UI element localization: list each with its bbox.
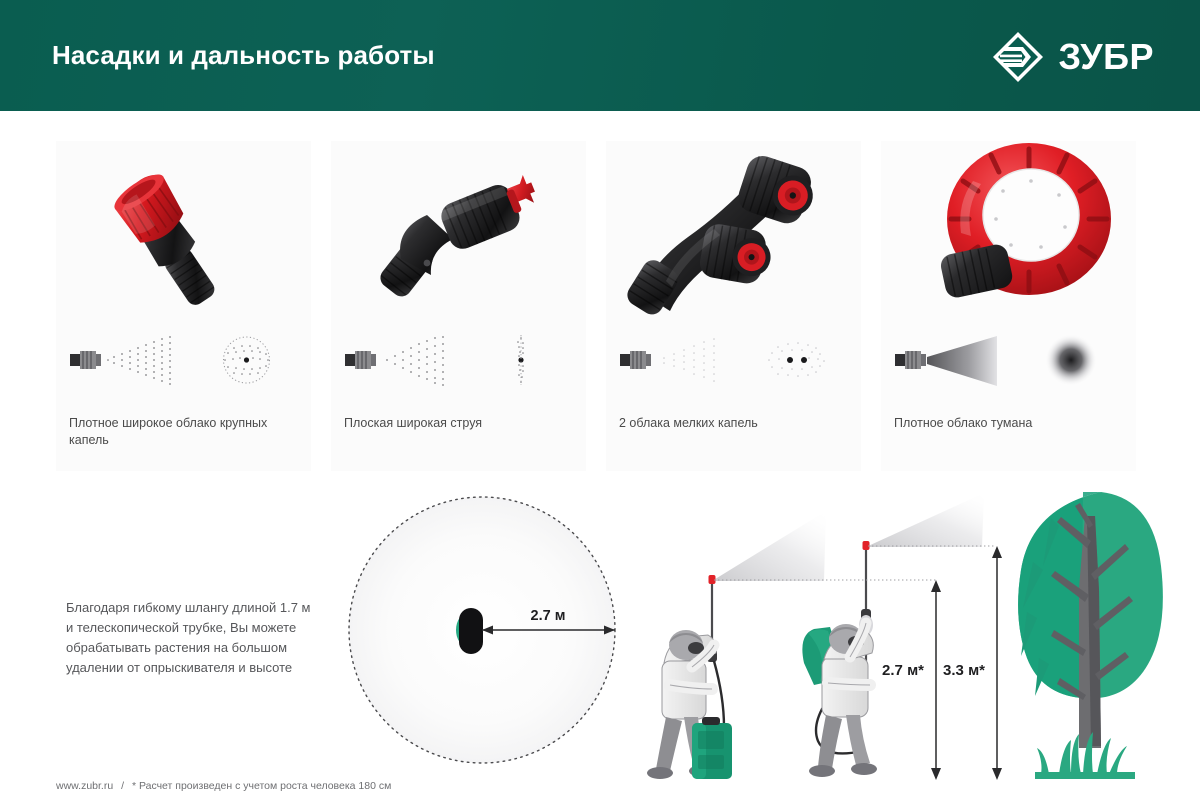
coverage-radius-diagram: 2.7 м [330, 478, 640, 783]
page-header: Насадки и дальность работы ЗУБР [0, 0, 1200, 111]
reach-height-diagram: 2.7 м* 3.3 м* [636, 485, 1026, 785]
twin-head-nozzle-photo [606, 141, 862, 331]
nozzle-card[interactable]: Плотное широкое облако крупных капель [56, 141, 312, 471]
operator-with-backpack-sprayer [802, 493, 984, 777]
nozzle-card-label: Плотное широкое облако крупных капель [69, 415, 301, 448]
footer-note: * Расчет произведен с учетом роста челов… [132, 780, 391, 792]
nozzle-card-label: Плотное облако тумана [894, 415, 1126, 432]
red-cone-nozzle-photo [56, 141, 312, 331]
nozzle-card-label: Плоская широкая струя [344, 415, 576, 432]
page-title: Насадки и дальность работы [52, 40, 435, 71]
footer-separator: / [116, 780, 129, 792]
brand-logo: ЗУБР [991, 30, 1154, 84]
nozzle-card[interactable]: 2 облака мелких капель [606, 141, 862, 471]
zubr-diamond-arrow-logo [991, 30, 1045, 84]
angled-flat-fan-nozzle-photo [331, 141, 587, 331]
height-dimension-left [931, 580, 941, 780]
reach-right-label: 3.3 м* [943, 662, 985, 679]
radius-label: 2.7 м [531, 608, 566, 624]
nozzle-card-label: 2 облака мелких капель [619, 415, 851, 432]
operator-with-floor-sprayer [647, 511, 826, 779]
operator-top-view [459, 608, 483, 654]
double-fine-mist-pattern [606, 329, 862, 391]
red-fan-mist-nozzle-photo [881, 141, 1137, 331]
nozzle-card[interactable]: Плоская широкая струя [331, 141, 587, 471]
nozzle-card-grid: Плотное широкое облако крупных капель [56, 141, 1152, 471]
footer: www.zubr.ru / * Расчет произведен с учет… [56, 780, 391, 792]
height-dimension-right [992, 546, 1002, 780]
nozzle-card[interactable]: Плотное облако тумана [881, 141, 1137, 471]
flat-jet-spray-pattern [331, 329, 587, 391]
brand-name: ЗУБР [1059, 39, 1154, 75]
hose-description-text: Благодаря гибкому шлангу длиной 1.7 м и … [66, 598, 318, 678]
green-tree-illustration [1005, 478, 1195, 783]
footer-site[interactable]: www.zubr.ru [56, 780, 113, 792]
dense-fog-pattern [881, 329, 1137, 391]
wide-cone-spray-pattern [56, 329, 312, 391]
infographic-page: Насадки и дальность работы ЗУБР [0, 0, 1200, 800]
reach-left-label: 2.7 м* [882, 662, 924, 679]
